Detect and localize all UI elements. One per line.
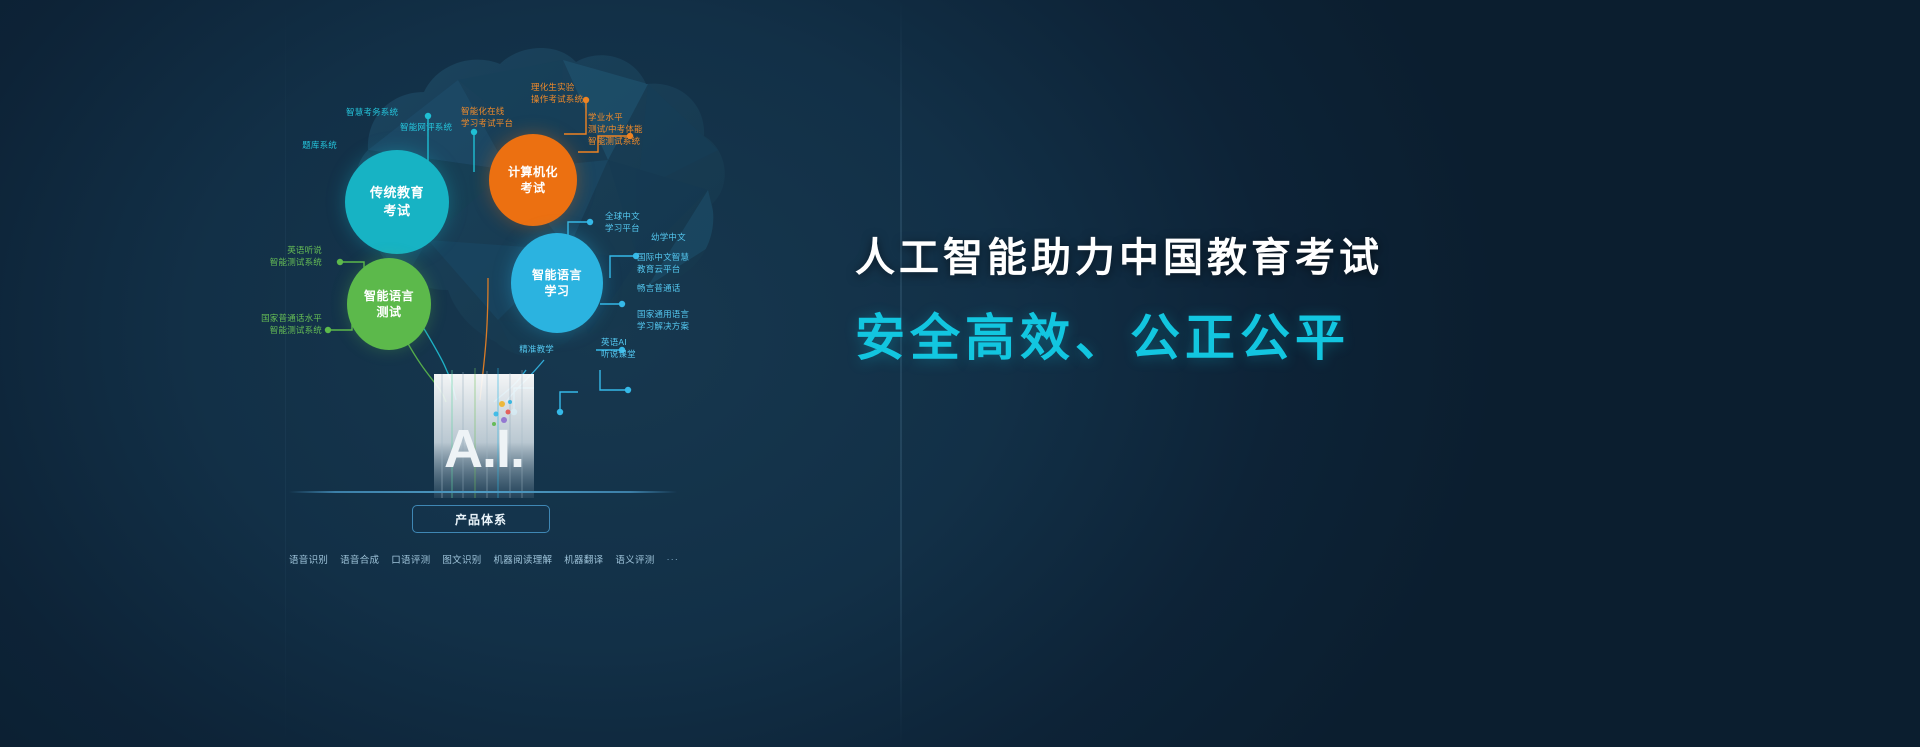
tag-more-ellipsis[interactable]: ···: [666, 554, 679, 565]
branch-label-global-chinese-learning-platform: 全球中文 学习平台: [605, 211, 640, 235]
branch-label-precision-teaching: 精准教学: [506, 344, 554, 356]
bubble-label: 智能语言测试: [364, 288, 414, 320]
tag-machine-reading-comprehension[interactable]: 机器阅读理解: [494, 552, 553, 566]
bubble-label: 智能语言学习: [532, 267, 582, 299]
banner-headline: 人工智能助力中国教育考试: [855, 234, 1555, 282]
branch-label-smart-exam-affairs-system: 智慧考务系统: [346, 107, 398, 119]
bubble-intelligent-language-learning[interactable]: 智能语言学习: [511, 233, 603, 333]
branch-label-intelligent-online-learning-exam-platform: 智能化在线 学习考试平台: [461, 106, 513, 130]
left-divider: [285, 0, 286, 747]
tag-speech-synthesis[interactable]: 语音合成: [340, 552, 379, 566]
branch-label-young-learners-chinese: 幼学中文: [651, 232, 686, 244]
branch-label-question-bank-system: 题库系统: [265, 140, 337, 152]
tag-semantic-evaluation[interactable]: 语义评测: [615, 552, 654, 566]
banner-subline: 安全高效、公正公平: [855, 308, 1555, 368]
branch-label-english-listening-speaking-intelligent-test-system: 英语听说 智能测试系统: [236, 245, 322, 269]
branch-label-english-ai-listening-speaking-classroom: 英语AI 听说课堂: [601, 337, 636, 361]
capability-tag-list: 语音识别 语音合成 口语评测 图文识别 机器阅读理解 机器翻译 语义评测 ···: [289, 552, 679, 566]
bubble-label: 计算机化考试: [508, 164, 558, 196]
banner-copy: 人工智能助力中国教育考试 安全高效、公正公平: [855, 234, 1555, 368]
tag-oral-evaluation[interactable]: 口语评测: [391, 552, 430, 566]
tag-speech-recognition[interactable]: 语音识别: [289, 552, 328, 566]
branch-label-intelligent-online-review-system: 智能网评系统: [400, 122, 452, 134]
bubble-traditional-education-exam[interactable]: 传统教育考试: [345, 150, 449, 254]
panel-divider: [900, 0, 902, 747]
bubble-label: 传统教育考试: [370, 184, 424, 219]
tag-image-text-recognition[interactable]: 图文识别: [442, 552, 481, 566]
branch-label-international-chinese-smart-education-cloud-platform: 国际中文智慧 教育云平台: [637, 252, 689, 276]
branch-label-changyan-putonghua: 畅言普通话: [637, 283, 681, 295]
product-system-label: 产品体系: [455, 511, 507, 528]
branch-label-national-putonghua-proficiency-intelligent-test-system: 国家普通话水平 智能测试系统: [218, 313, 322, 337]
tag-machine-translation[interactable]: 机器翻译: [564, 552, 603, 566]
branch-label-physics-chemistry-biology-lab-exam-system: 理化生实验 操作考试系统: [531, 82, 583, 106]
branch-label-academic-level-fitness-intelligent-test-system: 学业水平 测试/中考体能 智能测试系统: [588, 112, 643, 148]
banner-background: 传统教育考试 计算机化考试 智能语言测试 智能语言学习 题库系统 智慧考务系统 …: [0, 0, 1920, 747]
ai-wordmark: A.I.: [432, 418, 536, 480]
product-system-button[interactable]: 产品体系: [412, 505, 550, 533]
branch-label-national-common-language-learning-solution: 国家通用语言 学习解决方案: [637, 309, 689, 333]
bubble-computerized-exam[interactable]: 计算机化考试: [489, 134, 577, 226]
bubble-intelligent-language-test[interactable]: 智能语言测试: [347, 258, 431, 350]
ground-line: [289, 491, 677, 493]
